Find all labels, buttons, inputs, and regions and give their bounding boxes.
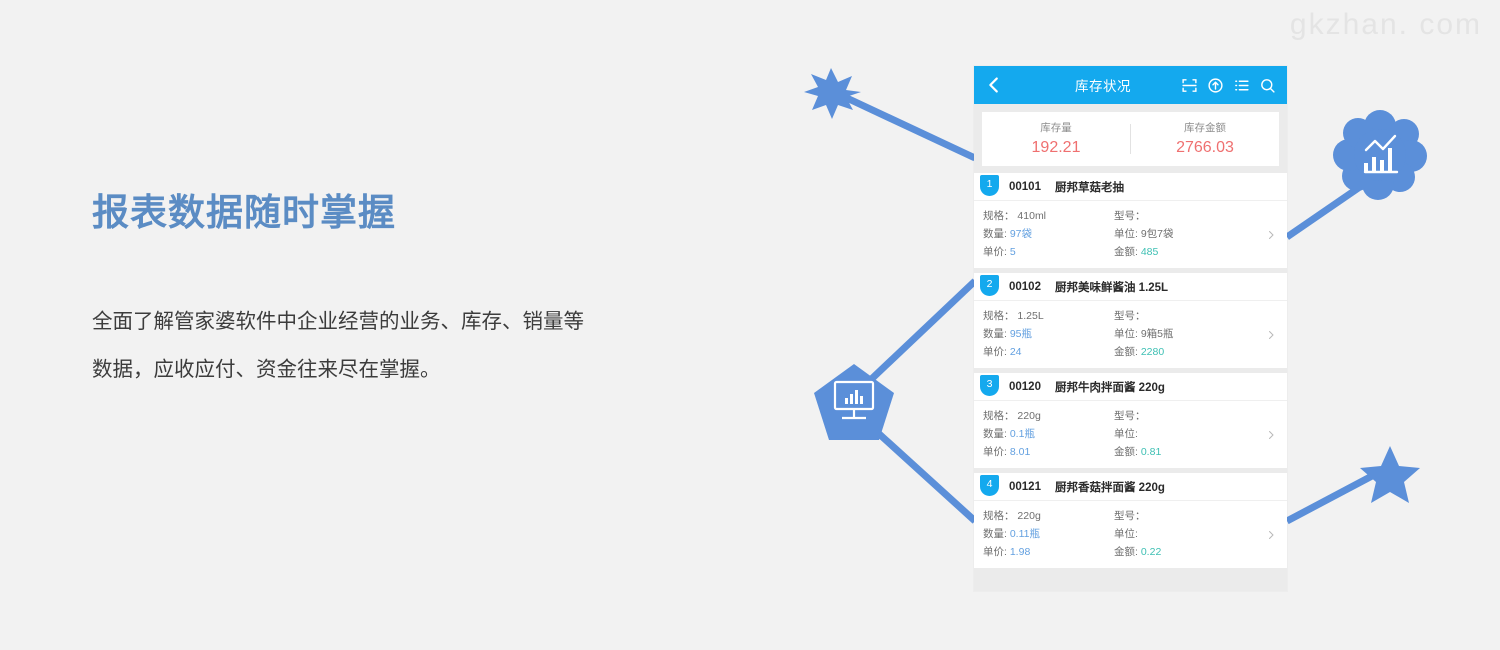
field-price: 单价: 5 — [983, 243, 1114, 261]
scan-icon[interactable] — [1181, 77, 1198, 94]
summary-card: 库存量 192.21 库存金额 2766.03 — [982, 112, 1279, 166]
sparkle-icon — [804, 68, 861, 119]
field-value: 2280 — [1141, 346, 1164, 358]
field-unit: 单位: 9箱5瓶 — [1114, 325, 1254, 343]
field-value: 5 — [1010, 246, 1016, 258]
chevron-left-icon — [983, 74, 1005, 96]
list-item-body: 规格： 220g 数量: 0.11瓶 单价: 1.98 型号： 单位: 金额: … — [974, 501, 1287, 568]
list-bottom-spacer — [974, 573, 1287, 591]
field-value: 9包7袋 — [1141, 228, 1174, 240]
field-model: 型号： — [1114, 307, 1254, 325]
summary-stat-quantity: 库存量 192.21 — [982, 121, 1130, 158]
app-navbar: 库存状况 — [974, 66, 1287, 104]
field-amount: 金额: 0.81 — [1114, 443, 1254, 461]
summary-section: 库存量 192.21 库存金额 2766.03 — [974, 104, 1287, 173]
field-label: 金额: — [1114, 446, 1138, 458]
field-price: 单价: 24 — [983, 343, 1114, 361]
item-code: 00102 — [1009, 281, 1041, 293]
item-code: 00101 — [1009, 181, 1041, 193]
field-label: 单位: — [1114, 428, 1138, 440]
list-icon[interactable] — [1233, 77, 1250, 94]
field-label: 金额: — [1114, 246, 1138, 258]
list-item-body: 规格： 410ml 数量: 97袋 单价: 5 型号： 单位: 9包7袋 金额:… — [974, 201, 1287, 268]
page-root: gkzhan. com 报表数据随时掌握 全面了解管家婆软件中企业经营的业务、库… — [0, 0, 1500, 650]
monitor-chart-bars — [845, 390, 863, 404]
field-label: 型号： — [1114, 410, 1146, 422]
item-name: 厨邦草菇老抽 — [1055, 179, 1278, 195]
field-value: 8.01 — [1010, 446, 1030, 458]
list-item-header: 2 00102 厨邦美味鲜酱油 1.25L — [974, 273, 1287, 301]
field-label: 数量: — [983, 228, 1007, 240]
field-unit: 单位: — [1114, 425, 1254, 443]
summary-stat-amount: 库存金额 2766.03 — [1131, 121, 1279, 158]
field-spec: 规格： 410ml — [983, 207, 1114, 225]
list-item[interactable]: 4 00121 厨邦香菇拌面酱 220g 规格： 220g 数量: 0.11瓶 … — [974, 473, 1287, 568]
list-item-body: 规格： 1.25L 数量: 95瓶 单价: 24 型号： 单位: 9箱5瓶 金额… — [974, 301, 1287, 368]
page-description: 全面了解管家婆软件中企业经营的业务、库存、销量等数据，应收应付、资金往来尽在掌握… — [92, 298, 592, 394]
field-label: 数量: — [983, 528, 1007, 540]
field-value: 485 — [1141, 246, 1159, 258]
field-label: 规格： — [983, 210, 1015, 222]
list-item-header: 3 00120 厨邦牛肉拌面酱 220g — [974, 373, 1287, 401]
field-label: 数量: — [983, 428, 1007, 440]
row-index-badge: 3 — [980, 375, 999, 396]
summary-value: 2766.03 — [1131, 137, 1279, 158]
field-value: 95瓶 — [1010, 328, 1032, 340]
marketing-copy: 报表数据随时掌握 全面了解管家婆软件中企业经营的业务、库存、销量等数据，应收应付… — [92, 190, 612, 394]
field-unit: 单位: 9包7袋 — [1114, 225, 1254, 243]
field-label: 单价: — [983, 546, 1007, 558]
phone-screen: 库存状况 — [974, 66, 1287, 591]
field-qty: 数量: 95瓶 — [983, 325, 1114, 343]
field-value: 0.1瓶 — [1010, 428, 1035, 440]
field-price: 单价: 1.98 — [983, 543, 1114, 561]
field-value: 0.81 — [1141, 446, 1161, 458]
chevron-right-icon[interactable] — [1265, 529, 1277, 541]
field-spec: 规格： 220g — [983, 407, 1114, 425]
field-label: 规格： — [983, 510, 1015, 522]
item-name: 厨邦香菇拌面酱 220g — [1055, 479, 1278, 495]
navbar-title: 库存状况 — [1005, 75, 1181, 95]
field-amount: 金额: 0.22 — [1114, 543, 1254, 561]
search-icon[interactable] — [1259, 77, 1276, 94]
list-item[interactable]: 3 00120 厨邦牛肉拌面酱 220g 规格： 220g 数量: 0.1瓶 单… — [974, 373, 1287, 468]
pentagon-shape — [814, 364, 894, 440]
cloud-badge — [1333, 110, 1427, 200]
row-index-badge: 4 — [980, 475, 999, 496]
field-value: 0.22 — [1141, 546, 1161, 558]
item-name: 厨邦美味鲜酱油 1.25L — [1055, 279, 1278, 295]
bar-line-chart-bars — [1364, 148, 1392, 171]
monitor-chart-icon — [835, 382, 873, 418]
field-label: 单价: — [983, 346, 1007, 358]
field-label: 数量: — [983, 328, 1007, 340]
field-label: 规格： — [983, 310, 1015, 322]
connector-line-top-left — [834, 92, 975, 158]
field-amount: 金额: 485 — [1114, 243, 1254, 261]
item-name: 厨邦牛肉拌面酱 220g — [1055, 379, 1278, 395]
list-item[interactable]: 1 00101 厨邦草菇老抽 规格： 410ml 数量: 97袋 单价: 5 型… — [974, 173, 1287, 268]
field-label: 型号： — [1114, 310, 1146, 322]
summary-label: 库存金额 — [1131, 121, 1279, 136]
field-model: 型号： — [1114, 207, 1254, 225]
field-value: 410ml — [1017, 210, 1046, 222]
chevron-right-icon[interactable] — [1265, 229, 1277, 241]
field-value: 220g — [1017, 410, 1040, 422]
row-index-badge: 2 — [980, 275, 999, 296]
summary-value: 192.21 — [982, 137, 1130, 158]
field-label: 单价: — [983, 446, 1007, 458]
inventory-list: 1 00101 厨邦草菇老抽 规格： 410ml 数量: 97袋 单价: 5 型… — [974, 173, 1287, 591]
bar-line-chart-icon — [1365, 136, 1397, 172]
field-value: 97袋 — [1010, 228, 1032, 240]
chevron-right-icon[interactable] — [1265, 329, 1277, 341]
connector-line-right-upper — [1287, 180, 1370, 237]
field-amount: 金额: 2280 — [1114, 343, 1254, 361]
field-value: 9箱5瓶 — [1141, 328, 1174, 340]
list-item-header: 1 00101 厨邦草菇老抽 — [974, 173, 1287, 201]
pentagon-badge — [814, 364, 894, 440]
field-label: 型号： — [1114, 510, 1146, 522]
summary-label: 库存量 — [982, 121, 1130, 136]
field-label: 单价: — [983, 246, 1007, 258]
field-label: 型号： — [1114, 210, 1146, 222]
field-qty: 数量: 97袋 — [983, 225, 1114, 243]
field-label: 单位: — [1114, 228, 1138, 240]
field-value: 0.11瓶 — [1010, 528, 1040, 540]
row-index-badge: 1 — [980, 175, 999, 196]
page-title: 报表数据随时掌握 — [92, 190, 612, 236]
field-label: 金额: — [1114, 346, 1138, 358]
chevron-right-icon[interactable] — [1265, 429, 1277, 441]
item-code: 00120 — [1009, 381, 1041, 393]
field-spec: 规格： 220g — [983, 507, 1114, 525]
field-label: 金额: — [1114, 546, 1138, 558]
list-item[interactable]: 2 00102 厨邦美味鲜酱油 1.25L 规格： 1.25L 数量: 95瓶 … — [974, 273, 1287, 368]
field-qty: 数量: 0.1瓶 — [983, 425, 1114, 443]
connector-line-right-lower — [1287, 467, 1389, 521]
item-code: 00121 — [1009, 481, 1041, 493]
field-spec: 规格： 1.25L — [983, 307, 1114, 325]
connector-line-mid-upper — [862, 281, 975, 388]
star-badge — [1360, 446, 1420, 503]
navbar-actions — [1181, 77, 1278, 94]
connector-line-mid-lower — [866, 422, 975, 521]
list-item-body: 规格： 220g 数量: 0.1瓶 单价: 8.01 型号： 单位: 金额: 0… — [974, 401, 1287, 468]
field-label: 单位: — [1114, 528, 1138, 540]
field-value: 24 — [1010, 346, 1022, 358]
site-watermark: gkzhan. com — [1290, 8, 1482, 42]
field-qty: 数量: 0.11瓶 — [983, 525, 1114, 543]
field-unit: 单位: — [1114, 525, 1254, 543]
upload-circle-icon[interactable] — [1207, 77, 1224, 94]
field-price: 单价: 8.01 — [983, 443, 1114, 461]
field-label: 单位: — [1114, 328, 1138, 340]
field-value: 220g — [1017, 510, 1040, 522]
burst-badge — [804, 68, 861, 119]
back-button[interactable] — [983, 74, 1005, 96]
field-model: 型号： — [1114, 507, 1254, 525]
field-model: 型号： — [1114, 407, 1254, 425]
field-label: 规格： — [983, 410, 1015, 422]
list-item-header: 4 00121 厨邦香菇拌面酱 220g — [974, 473, 1287, 501]
star-icon — [1360, 446, 1420, 503]
field-value: 1.98 — [1010, 546, 1030, 558]
field-value: 1.25L — [1017, 310, 1043, 322]
